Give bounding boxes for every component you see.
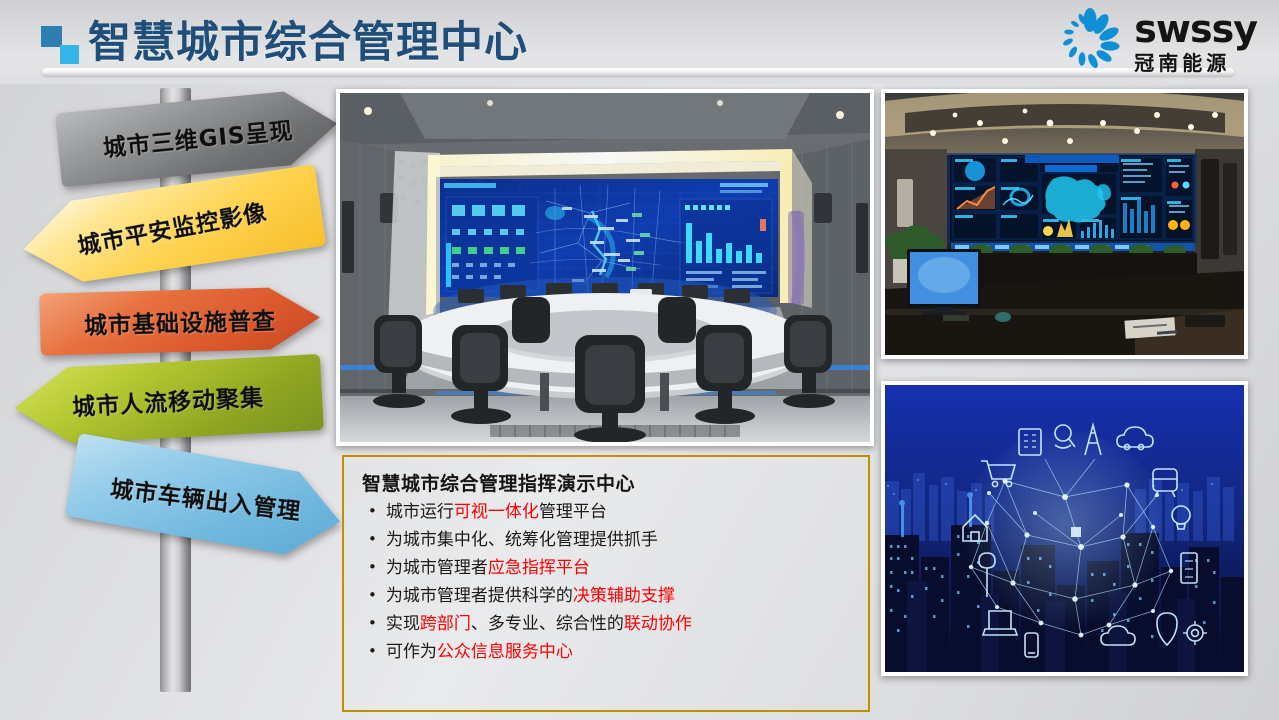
highlighted-phrase: 联动协作: [624, 614, 692, 634]
plain-phrase: 为城市管理者提供科学的: [386, 586, 573, 606]
sign-crowd-flow[interactable]: 城市人流移动聚集: [12, 354, 324, 446]
callout-bullet-text: 为城市集中化、统筹化管理提供抓手: [386, 528, 658, 554]
bullet-dot-icon: •: [368, 584, 377, 607]
logo-subtitle: 冠南能源: [1134, 53, 1230, 73]
plain-phrase: 管理平台: [539, 502, 607, 522]
callout-bullet-text: 实现跨部门、多专业、综合性的联动协作: [386, 612, 692, 638]
plain-phrase: 城市运行: [386, 502, 454, 522]
header-divider: [42, 68, 1234, 76]
page-header: 智慧城市综合管理中心: [0, 0, 1279, 84]
logo-wordmark: swssy: [1134, 10, 1257, 48]
photo-command-room: [336, 89, 874, 446]
callout-bullet-text: 为城市管理者应急指挥平台: [386, 556, 590, 582]
photo-video-wall-room: [881, 89, 1248, 359]
callout-bullet-item: •为城市集中化、统筹化管理提供抓手: [368, 528, 850, 554]
callout-bullet-item: •为城市管理者应急指挥平台: [368, 556, 850, 582]
callout-bullet-text: 为城市管理者提供科学的决策辅助支撑: [386, 584, 675, 610]
bullet-dot-icon: •: [368, 640, 377, 663]
plain-phrase: 可作为: [386, 642, 437, 662]
water-droplet-petals-icon: [1056, 7, 1124, 75]
square-light: [60, 45, 79, 64]
logo-text-block: swssy 冠南能源: [1134, 10, 1257, 73]
bullet-dot-icon: •: [368, 528, 377, 551]
highlighted-phrase: 公众信息服务中心: [437, 642, 573, 662]
photo-smart-city-network: [881, 381, 1248, 676]
bullet-dot-icon: •: [368, 500, 377, 523]
signpost-group: 城市三维GIS呈现 城市平安监控影像 城市基础设施普查 城市人流移动聚集 城市车…: [0, 84, 340, 720]
callout-title: 智慧城市综合管理指挥演示中心: [362, 469, 850, 496]
highlighted-phrase: 决策辅助支撑: [573, 586, 675, 606]
callout-bullet-item: •城市运行可视一体化管理平台: [368, 500, 850, 526]
callout-bullet-item: •为城市管理者提供科学的决策辅助支撑: [368, 584, 850, 610]
two-squares-icon: [41, 26, 83, 64]
callout-bullet-item: •实现跨部门、多专业、综合性的联动协作: [368, 612, 850, 638]
bullet-dot-icon: •: [368, 612, 377, 635]
bullet-dot-icon: •: [368, 556, 377, 579]
plain-phrase: 为城市集中化、统筹化管理提供抓手: [386, 530, 658, 550]
plain-phrase: 为城市管理者: [386, 558, 488, 578]
callout-bullet-item: •可作为公众信息服务中心: [368, 640, 850, 666]
company-logo: swssy 冠南能源: [1056, 6, 1257, 76]
plain-phrase: 、多专业、综合性的: [471, 614, 624, 634]
callout-bullet-text: 城市运行可视一体化管理平台: [386, 500, 607, 526]
sign-vehicle-access[interactable]: 城市车辆出入管理: [65, 433, 347, 563]
callout-bullet-text: 可作为公众信息服务中心: [386, 640, 573, 666]
highlighted-phrase: 应急指挥平台: [488, 558, 590, 578]
square-dark: [41, 26, 62, 47]
page-title: 智慧城市综合管理中心: [88, 8, 528, 70]
callout-box: 智慧城市综合管理指挥演示中心 •城市运行可视一体化管理平台•为城市集中化、统筹化…: [342, 455, 870, 712]
callout-bullet-list: •城市运行可视一体化管理平台•为城市集中化、统筹化管理提供抓手•为城市管理者应急…: [362, 500, 850, 666]
sign-infrastructure-survey[interactable]: 城市基础设施普查: [39, 286, 321, 355]
highlighted-phrase: 跨部门: [420, 614, 471, 634]
highlighted-phrase: 可视一体化: [454, 502, 539, 522]
plain-phrase: 实现: [386, 614, 420, 634]
